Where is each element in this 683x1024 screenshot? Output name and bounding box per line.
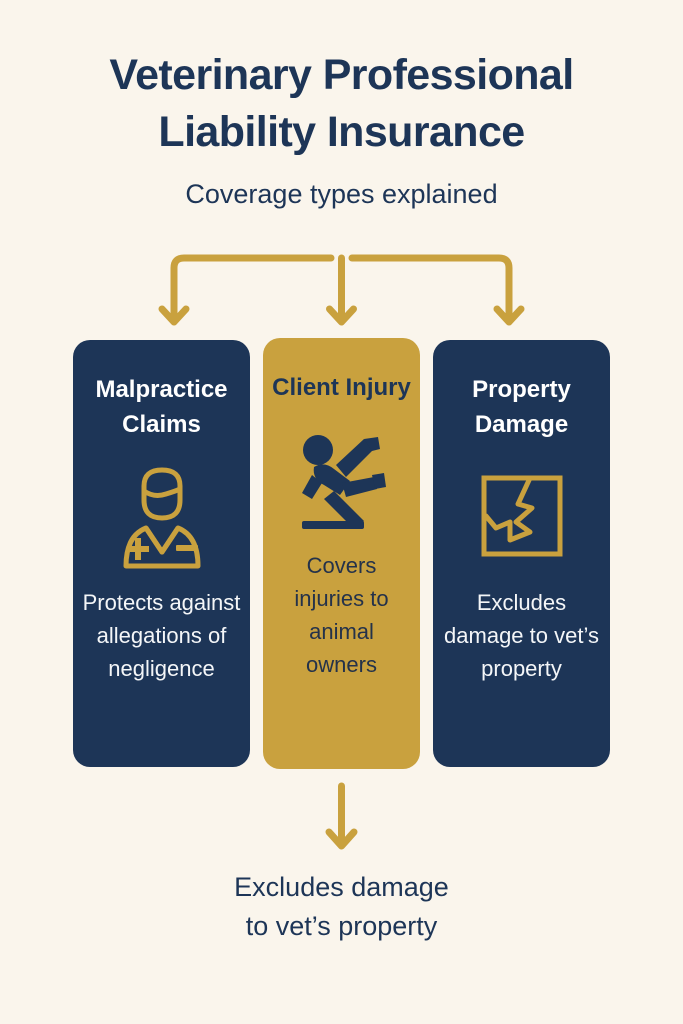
- branching-connector: [0, 246, 683, 336]
- page-title: Veterinary Professional Liability Insura…: [0, 47, 683, 161]
- card-desc-line-4: property: [481, 656, 562, 681]
- card-desc-line-3: vet’s: [554, 623, 599, 648]
- card-property-damage[interactable]: Property Damage Excludes damage to vet’s…: [433, 340, 610, 767]
- card-title-line-1: Client: [272, 374, 339, 401]
- card-desc-line-2: against: [169, 590, 240, 615]
- connector-svg: [0, 246, 683, 336]
- card-title-line-2: Damage: [475, 411, 568, 438]
- down-arrow: [0, 782, 683, 858]
- card-desc-line-2: damage to: [444, 623, 548, 648]
- card-title: Property Damage: [433, 372, 610, 442]
- page-subtitle: Coverage types explained: [0, 178, 683, 211]
- card-client-injury[interactable]: Client Injury: [263, 338, 420, 769]
- card-desc-line-1: Covers: [307, 553, 377, 578]
- footer-caption-line-2: to vet’s property: [0, 907, 683, 946]
- card-malpractice-claims[interactable]: Malpractice Claims: [73, 340, 250, 767]
- title-line-1: Veterinary Professional: [40, 47, 643, 104]
- card-title-line-1: Property: [472, 376, 571, 403]
- card-title-line-1: Malpractice: [95, 376, 227, 403]
- card-description: Protects against allegations of negligen…: [73, 586, 250, 685]
- slip-and-fall-icon: [290, 423, 394, 535]
- card-desc-line-4: owners: [306, 652, 377, 677]
- card-desc-line-1: Protects: [83, 590, 164, 615]
- card-title: Client Injury: [264, 370, 419, 405]
- infographic-page: Veterinary Professional Liability Insura…: [0, 0, 683, 1024]
- card-desc-line-3: animal: [309, 619, 374, 644]
- card-description: Covers injuries to animal owners: [263, 549, 420, 681]
- card-desc-line-1: Excludes: [477, 590, 566, 615]
- card-description: Excludes damage to vet’s property: [433, 586, 610, 685]
- coverage-cards: Malpractice Claims: [73, 338, 610, 770]
- footer-caption-line-1: Excludes damage: [0, 868, 683, 907]
- card-title: Malpractice Claims: [73, 372, 250, 442]
- title-line-2: Liability Insurance: [40, 104, 643, 161]
- broken-window-icon: [470, 460, 574, 572]
- card-desc-line-2: injuries to: [294, 586, 388, 611]
- footer-caption: Excludes damage to vet’s property: [0, 868, 683, 946]
- header: Veterinary Professional Liability Insura…: [0, 47, 683, 211]
- card-title-line-2: Claims: [122, 411, 201, 438]
- card-title-line-2: Injury: [346, 374, 411, 401]
- veterinarian-icon: [110, 460, 214, 572]
- card-desc-line-3: allegations: [97, 623, 202, 648]
- down-arrow-svg: [0, 782, 683, 858]
